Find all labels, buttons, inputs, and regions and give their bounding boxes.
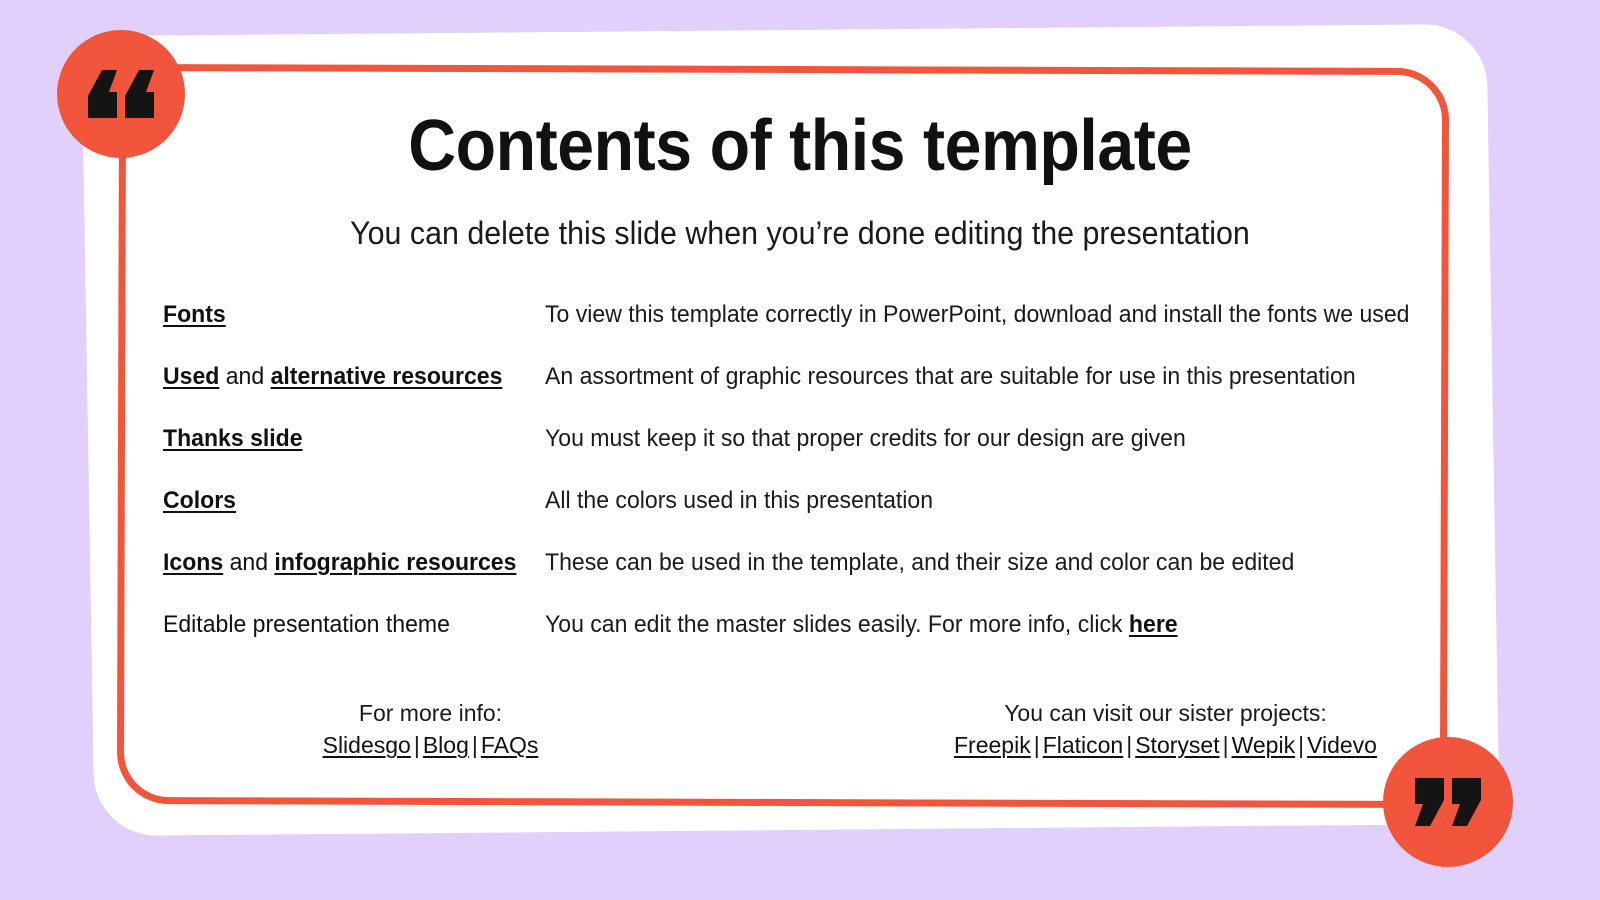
link-separator: | — [1295, 732, 1307, 758]
link-separator: | — [469, 732, 481, 758]
slide-content: Contents of this template You can delete… — [0, 0, 1600, 900]
slide-canvas: Contents of this template You can delete… — [0, 0, 1600, 900]
footer-link-blog[interactable]: Blog — [423, 732, 469, 758]
footer-link-storyset[interactable]: Storyset — [1135, 732, 1219, 758]
list-item: Icons and infographic resources These ca… — [163, 548, 1433, 610]
inline-text: and — [219, 363, 270, 390]
inline-link[interactable]: Thanks slide — [163, 425, 303, 452]
inline-link[interactable]: here — [1129, 611, 1178, 638]
list-item: Thanks slide You must keep it so that pr… — [163, 424, 1433, 486]
contents-row-description: You can edit the master slides easily. F… — [545, 610, 1397, 640]
inline-link[interactable]: Used — [163, 363, 219, 390]
list-item: Used and alternative resources An assort… — [163, 362, 1433, 424]
link-separator: | — [1220, 732, 1232, 758]
contents-row-label: Editable presentation theme — [163, 610, 530, 640]
inline-text: and — [223, 549, 274, 576]
contents-list: Fonts To view this template correctly in… — [163, 300, 1433, 672]
footer-link-freepik[interactable]: Freepik — [954, 732, 1031, 758]
link-separator: | — [1031, 732, 1043, 758]
inline-text: An assortment of graphic resources that … — [545, 363, 1356, 390]
contents-row-label: Fonts — [163, 300, 530, 330]
inline-link[interactable]: Colors — [163, 487, 236, 514]
inline-link[interactable]: Fonts — [163, 301, 226, 328]
list-item: Colors All the colors used in this prese… — [163, 486, 1433, 548]
footer-more-info-links[interactable]: Slidesgo|Blog|FAQs — [163, 730, 698, 761]
page-title: Contents of this template — [64, 104, 1536, 188]
inline-text: You can edit the master slides easily. F… — [545, 611, 1129, 638]
inline-link[interactable]: infographic resources — [274, 549, 516, 576]
contents-row-description: These can be used in the template, and t… — [545, 548, 1397, 578]
footer-sister-projects: You can visit our sister projects: Freep… — [838, 698, 1433, 761]
inline-text: All the colors used in this presentation — [545, 487, 933, 514]
footer-more-info-heading: For more info: — [163, 698, 698, 729]
footer-sister-projects-heading: You can visit our sister projects: — [898, 698, 1433, 729]
link-separator: | — [411, 732, 423, 758]
contents-row-label: Colors — [163, 486, 530, 516]
list-item: Editable presentation theme You can edit… — [163, 610, 1433, 672]
inline-link[interactable]: alternative resources — [271, 363, 503, 390]
inline-text: These can be used in the template, and t… — [545, 549, 1294, 576]
contents-row-description: All the colors used in this presentation — [545, 486, 1397, 516]
contents-row-description: You must keep it so that proper credits … — [545, 424, 1397, 454]
inline-text: Editable presentation theme — [163, 611, 450, 638]
inline-text: You must keep it so that proper credits … — [545, 425, 1186, 452]
contents-row-label: Used and alternative resources — [163, 362, 530, 392]
list-item: Fonts To view this template correctly in… — [163, 300, 1433, 362]
inline-link[interactable]: Icons — [163, 549, 223, 576]
footer-more-info: For more info: Slidesgo|Blog|FAQs — [163, 698, 838, 761]
footer-link-videvo[interactable]: Videvo — [1307, 732, 1377, 758]
slide-footer: For more info: Slidesgo|Blog|FAQs You ca… — [163, 698, 1433, 761]
link-separator: | — [1123, 732, 1135, 758]
footer-link-flaticon[interactable]: Flaticon — [1043, 732, 1124, 758]
contents-row-description: To view this template correctly in Power… — [545, 300, 1409, 330]
footer-link-faqs[interactable]: FAQs — [481, 732, 539, 758]
inline-text: To view this template correctly in Power… — [545, 301, 1409, 328]
page-subtitle: You can delete this slide when you’re do… — [40, 212, 1560, 254]
contents-row-description: An assortment of graphic resources that … — [545, 362, 1397, 392]
footer-link-slidesgo[interactable]: Slidesgo — [323, 732, 411, 758]
footer-link-wepik[interactable]: Wepik — [1232, 732, 1296, 758]
footer-sister-projects-links[interactable]: Freepik|Flaticon|Storyset|Wepik|Videvo — [898, 730, 1433, 761]
contents-row-label: Thanks slide — [163, 424, 530, 454]
contents-row-label: Icons and infographic resources — [163, 548, 530, 578]
